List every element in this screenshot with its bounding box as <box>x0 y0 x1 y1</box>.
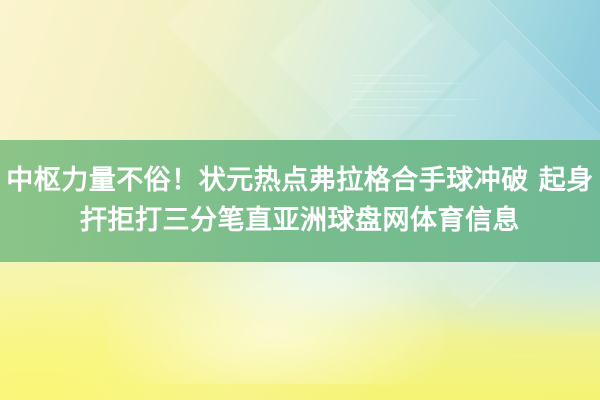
headline-line-2: 扞拒打三分笔直亚洲球盘网体育信息 <box>80 201 520 241</box>
cloud-shape-lower <box>108 264 444 384</box>
headline-line-1: 中枢力量不俗！状元热点弗拉格合手球冲破 起身 <box>6 161 593 201</box>
headline-band: 中枢力量不俗！状元热点弗拉格合手球冲破 起身 扞拒打三分笔直亚洲球盘网体育信息 <box>0 140 600 262</box>
banner-image: 中枢力量不俗！状元热点弗拉格合手球冲破 起身 扞拒打三分笔直亚洲球盘网体育信息 <box>0 0 600 400</box>
